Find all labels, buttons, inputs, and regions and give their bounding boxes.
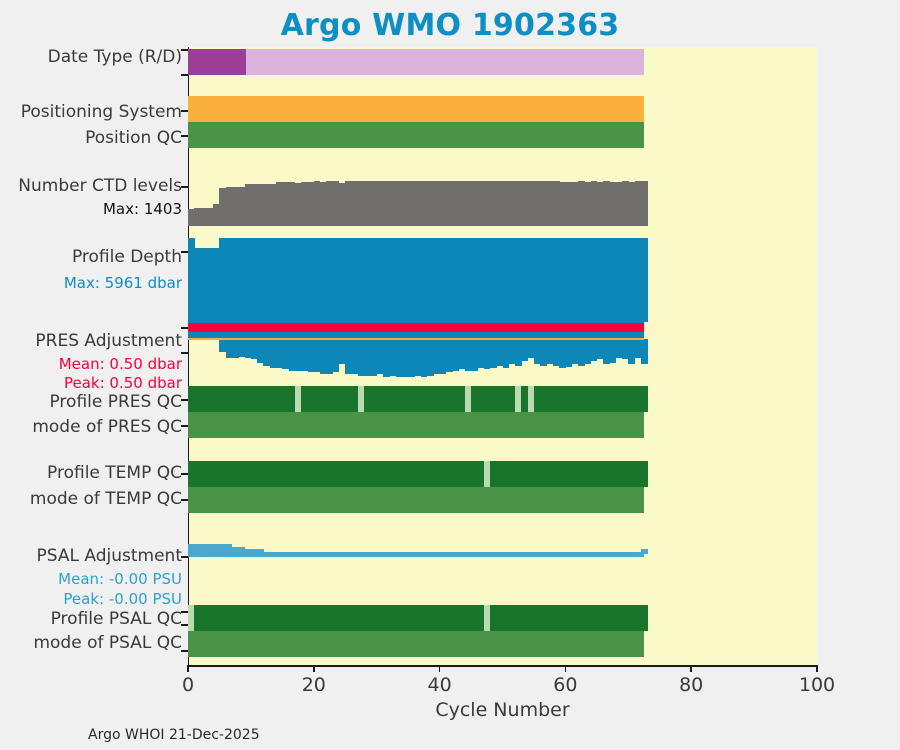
track-label-position_qc: Position QC: [85, 130, 182, 147]
y-tick-13: [181, 611, 188, 613]
x-tick-label-40: 40: [428, 674, 452, 696]
y-tick-4: [181, 186, 188, 188]
track-label-psal_adjustment: PSAL Adjustment: [37, 548, 182, 565]
y-tick-12: [181, 556, 188, 558]
y-tick-1: [181, 74, 188, 76]
track-positioning_system: [188, 96, 817, 122]
x-tick-label-20: 20: [302, 674, 326, 696]
bar-profile_depth-72: [641, 238, 648, 322]
track-profile_depth: [188, 238, 817, 322]
track-profile_temp_qc: [188, 461, 817, 487]
track-mode_of_temp_qc: [188, 487, 817, 513]
track-sublabel-profile_depth: Max: 5961 dbar: [64, 276, 182, 291]
x-tick-80: [690, 665, 692, 672]
bar-n_ctd_levels-72: [641, 181, 648, 226]
track-mode_of_psal_qc: [188, 631, 817, 657]
segment-date_type-0: [188, 49, 246, 75]
track-date_type: [188, 49, 817, 75]
y-tick-2: [181, 110, 188, 112]
track-label-n_ctd_levels: Number CTD levels: [18, 178, 182, 195]
track-sublabel-mean-psal_adjustment: Mean: -0.00 PSU: [58, 572, 182, 587]
track-label-date_type: Date Type (R/D): [48, 49, 182, 66]
track-label-positioning_system: Positioning System: [21, 104, 182, 121]
track-label-mode_of_temp_qc: mode of TEMP QC: [30, 491, 182, 508]
x-tick-100: [816, 665, 818, 672]
segment-date_type-1: [246, 49, 644, 75]
track-label-pres_adjustment: PRES Adjustment: [35, 333, 182, 350]
y-tick-8: [181, 399, 188, 401]
y-tick-6: [181, 327, 188, 329]
argo-float-summary-figure: Argo WMO 1902363 020406080100 Cycle Numb…: [0, 0, 900, 750]
track-label-profile_psal_qc: Profile PSAL QC: [51, 611, 182, 628]
segment-mode_of_pres_qc-0: [188, 412, 644, 438]
x-tick-label-80: 80: [679, 674, 703, 696]
segment-position_qc-0: [188, 122, 644, 148]
y-tick-10: [181, 473, 188, 475]
segment-mode_of_psal_qc-0: [188, 631, 644, 657]
y-tick-3: [181, 135, 188, 137]
x-axis-label: Cycle Number: [188, 699, 817, 721]
track-mode_of_pres_qc: [188, 412, 817, 438]
x-axis-line: [188, 665, 817, 667]
track-pres_adjustment: [188, 313, 817, 381]
adj-bar-pres_adjustment-72: [641, 339, 648, 364]
track-label-mode_of_pres_qc: mode of PRES QC: [32, 419, 182, 436]
y-tick-15: [181, 650, 188, 652]
track-sublabel-n_ctd_levels: Max: 1403: [103, 202, 182, 217]
track-psal_adjustment: [188, 540, 817, 576]
x-tick-60: [565, 665, 567, 672]
track-sublabel-mean-pres_adjustment: Mean: 0.50 dbar: [59, 357, 182, 372]
track-profile_pres_qc: [188, 386, 817, 412]
segment-positioning_system-0: [188, 96, 644, 122]
psal-zero-line: [188, 552, 644, 557]
page-title: Argo WMO 1902363: [0, 8, 900, 43]
x-tick-label-0: 0: [182, 674, 194, 696]
y-tick-11: [181, 499, 188, 501]
footer-credit: Argo WHOI 21-Dec-2025: [88, 727, 260, 743]
track-label-mode_of_psal_qc: mode of PSAL QC: [33, 635, 182, 652]
y-tick-0: [181, 49, 188, 51]
pres-peak-line: [188, 323, 644, 332]
y-tick-9: [181, 425, 188, 427]
track-profile_psal_qc: [188, 605, 817, 631]
y-tick-7: [181, 352, 188, 354]
qc-cell-profile_pres_qc-72: [641, 386, 648, 412]
track-position_qc: [188, 122, 817, 148]
track-label-profile_temp_qc: Profile TEMP QC: [47, 465, 182, 482]
y-tick-5: [181, 251, 188, 253]
x-tick-0: [187, 665, 189, 672]
track-label-profile_pres_qc: Profile PRES QC: [49, 394, 182, 411]
track-sublabel-peak-psal_adjustment: Peak: -0.00 PSU: [63, 592, 182, 607]
track-n_ctd_levels: [188, 172, 817, 226]
x-tick-label-60: 60: [553, 674, 577, 696]
qc-cell-profile_psal_qc-72: [641, 605, 648, 631]
x-tick-40: [439, 665, 441, 672]
pres-zero-line: [188, 338, 644, 340]
x-tick-label-100: 100: [799, 674, 835, 696]
segment-mode_of_temp_qc-0: [188, 487, 644, 513]
qc-cell-profile_temp_qc-72: [641, 461, 648, 487]
y-tick-14: [181, 624, 188, 626]
x-tick-20: [313, 665, 315, 672]
track-label-profile_depth: Profile Depth: [72, 249, 182, 266]
track-sublabel-peak-pres_adjustment: Peak: 0.50 dbar: [64, 376, 182, 391]
